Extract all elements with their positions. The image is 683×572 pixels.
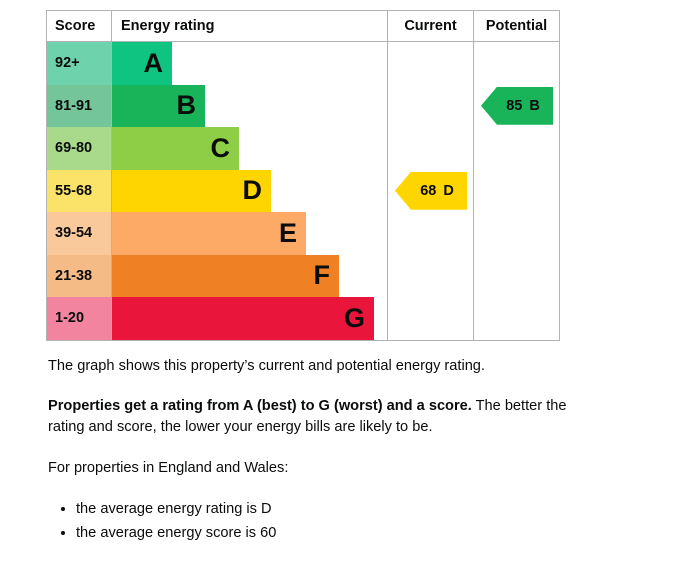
rating-explanation-bold: Properties get a rating from A (best) to… xyxy=(48,398,472,414)
rating-markers: 68 D 85 B xyxy=(387,42,559,340)
band-letter-b: B xyxy=(177,92,197,119)
list-item: the average energy rating is D xyxy=(76,499,568,520)
band-bar-wrap-b: B xyxy=(111,85,387,128)
band-bar-wrap-d: D xyxy=(111,170,387,213)
band-bar-wrap-c: C xyxy=(111,127,387,170)
band-bar-d: D xyxy=(112,170,271,213)
potential-rating-score: 85 xyxy=(506,98,522,114)
rating-explanation-paragraph: Properties get a rating from A (best) to… xyxy=(48,396,568,438)
band-letter-c: C xyxy=(211,135,231,162)
band-row-a: 92+ A xyxy=(47,42,387,85)
band-letter-a: A xyxy=(144,50,164,77)
potential-rating-arrow: 85 B xyxy=(481,87,553,125)
band-score-d: 55-68 xyxy=(47,170,111,213)
current-rating-column: 68 D xyxy=(387,42,473,340)
band-score-c: 69-80 xyxy=(47,127,111,170)
band-row-g: 1-20 G xyxy=(47,297,387,340)
column-header-energy-rating: Energy rating xyxy=(111,11,387,41)
potential-rating-letter: B xyxy=(529,98,539,114)
band-score-a: 92+ xyxy=(47,42,111,85)
table-body: 92+ A 81-91 B 69-80 xyxy=(47,42,559,340)
table-header-row: Score Energy rating Current Potential xyxy=(47,11,559,42)
epc-rating-table: Score Energy rating Current Potential 92… xyxy=(46,10,560,341)
band-bar-e: E xyxy=(112,212,306,255)
band-score-f: 21-38 xyxy=(47,255,111,298)
band-score-g: 1-20 xyxy=(47,297,111,340)
column-header-current: Current xyxy=(387,11,473,41)
band-row-b: 81-91 B xyxy=(47,85,387,128)
band-bar-wrap-e: E xyxy=(111,212,387,255)
band-row-f: 21-38 F xyxy=(47,255,387,298)
band-score-b: 81-91 xyxy=(47,85,111,128)
band-row-e: 39-54 E xyxy=(47,212,387,255)
band-bar-b: B xyxy=(112,85,205,128)
band-bar-f: F xyxy=(112,255,339,298)
band-score-e: 39-54 xyxy=(47,212,111,255)
band-letter-e: E xyxy=(279,220,297,247)
list-item: the average energy score is 60 xyxy=(76,523,568,544)
band-letter-f: F xyxy=(314,262,331,289)
column-header-potential: Potential xyxy=(473,11,559,41)
current-rating-letter: D xyxy=(443,183,453,199)
band-bar-wrap-g: G xyxy=(111,297,387,340)
band-row-c: 69-80 C xyxy=(47,127,387,170)
region-averages-list: the average energy rating is D the avera… xyxy=(48,499,568,544)
band-bar-c: C xyxy=(112,127,239,170)
current-rating-arrow: 68 D xyxy=(395,172,467,210)
current-rating-score: 68 xyxy=(420,183,436,199)
band-bar-wrap-f: F xyxy=(111,255,387,298)
region-intro-paragraph: For properties in England and Wales: xyxy=(48,458,568,479)
band-bar-g: G xyxy=(112,297,374,340)
band-bar-wrap-a: A xyxy=(111,42,387,85)
energy-band-list: 92+ A 81-91 B 69-80 xyxy=(47,42,387,340)
band-letter-d: D xyxy=(243,177,263,204)
band-bar-a: A xyxy=(112,42,172,85)
potential-rating-column: 85 B xyxy=(473,42,559,340)
column-header-score: Score xyxy=(47,11,111,41)
band-letter-g: G xyxy=(344,305,365,332)
explanatory-copy: The graph shows this property’s current … xyxy=(48,356,568,547)
intro-paragraph: The graph shows this property’s current … xyxy=(48,356,568,377)
band-row-d: 55-68 D xyxy=(47,170,387,213)
